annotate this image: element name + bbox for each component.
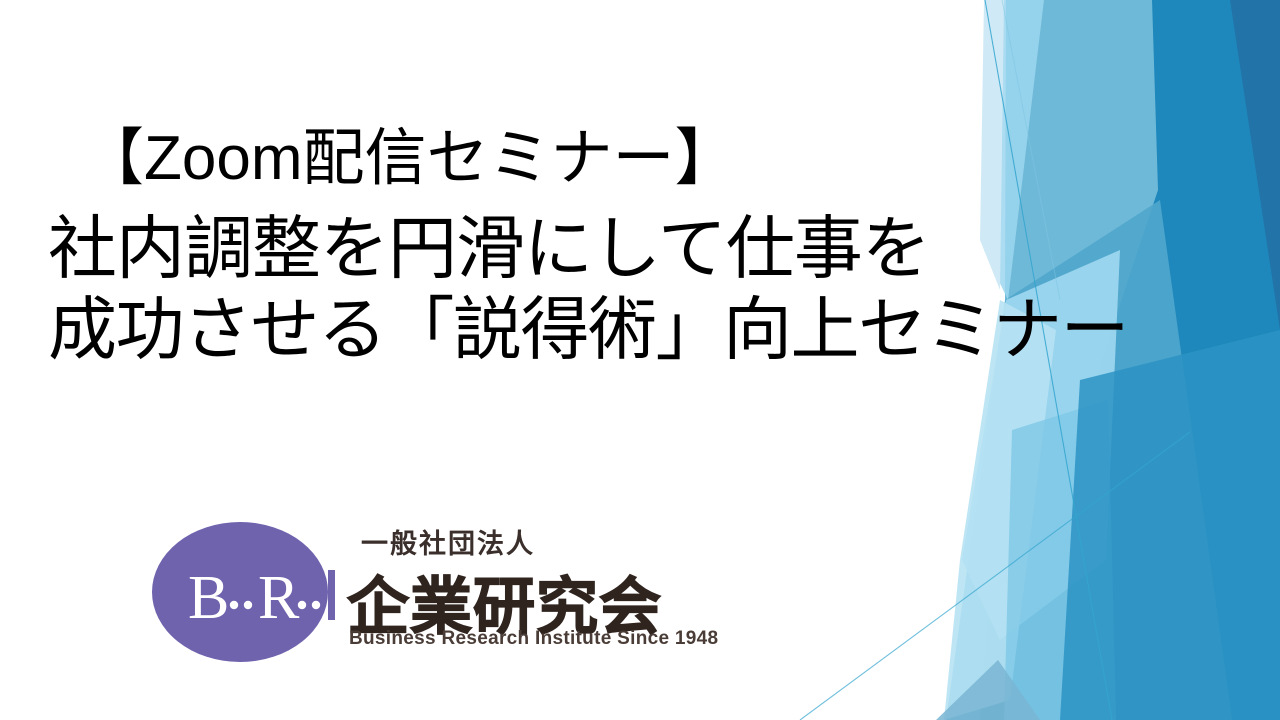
logo-ellipse	[152, 522, 328, 662]
decor-shape-bottom-grey-triangle	[936, 660, 1040, 720]
seminar-label-line: 【Zoom配信セミナー】	[0, 128, 1270, 190]
decor-hairline-diagonal	[800, 432, 1190, 720]
seminar-title-line-1: 社内調整を円滑にして仕事を	[0, 214, 1270, 283]
logo-dot-3	[298, 601, 306, 609]
logo-tagline: Business Research Institute Since 1948	[349, 628, 718, 650]
logo-dot-4	[312, 601, 320, 609]
logo-dot-2	[244, 601, 252, 609]
logo-dot-1	[230, 601, 238, 609]
bri-logo-mark: B R	[152, 520, 347, 665]
seminar-title-line-2: 成功させる「説得術」向上セミナー	[0, 295, 1270, 364]
logo-letter-r: R	[258, 564, 300, 632]
logo-letter-i	[328, 570, 335, 620]
logo-letter-b: B	[188, 564, 229, 632]
decor-shape-mid-overlay-bottom	[1060, 330, 1280, 720]
slide-canvas: 【Zoom配信セミナー】 社内調整を円滑にして仕事を 成功させる「説得術」向上セ…	[0, 0, 1280, 720]
title-block: 【Zoom配信セミナー】 社内調整を円滑にして仕事を 成功させる「説得術」向上セ…	[0, 128, 1270, 364]
logo-wordmark: 一般社団法人 企業研究会 Business Research Institute…	[347, 512, 722, 672]
organization-logo: B R 一般社団法人 企業研究会 Business Research Insti…	[152, 512, 722, 672]
decor-shape-bright-wedge-bottom	[1004, 400, 1116, 720]
